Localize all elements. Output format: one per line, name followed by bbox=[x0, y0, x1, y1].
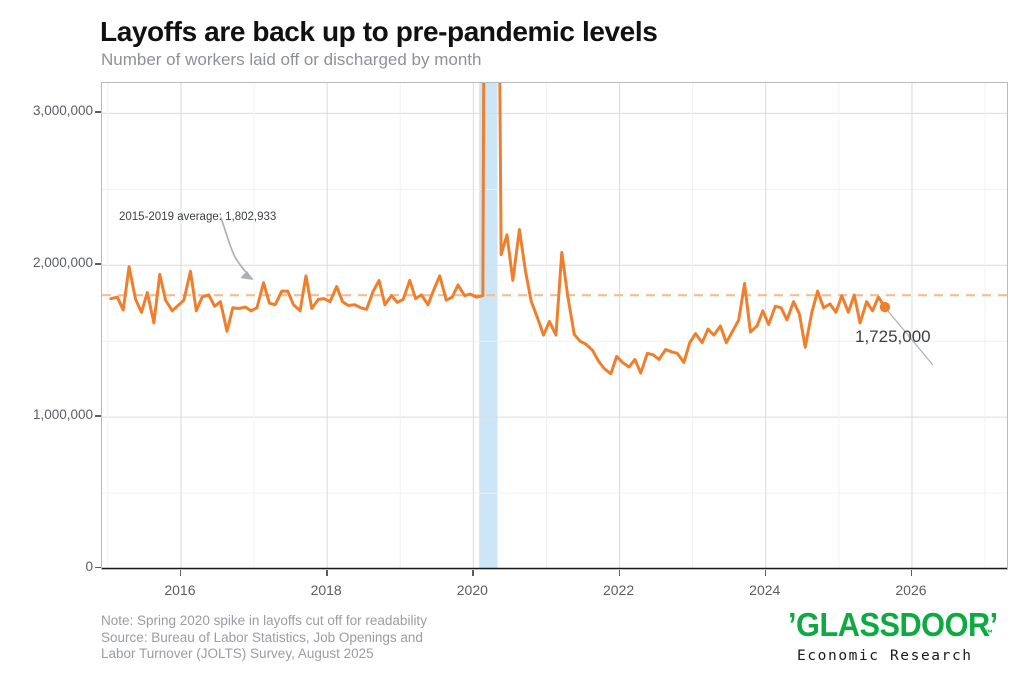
footnote: Note: Spring 2020 spike in layoffs cut o… bbox=[101, 613, 427, 663]
glassdoor-logo: ’GLASSDOOR’ ™ Economic Research bbox=[788, 606, 1008, 676]
x-axis-tick-mark bbox=[619, 570, 620, 576]
y-axis-tick-label: 1,000,000 bbox=[9, 407, 93, 422]
logo-tagline: Economic Research bbox=[797, 648, 973, 664]
average-annotation-label: 2015-2019 average: 1,802,933 bbox=[119, 211, 276, 223]
end-point-marker bbox=[880, 302, 890, 312]
y-axis-tick-mark bbox=[95, 263, 101, 264]
series-line-layoffs bbox=[111, 83, 885, 374]
footnote-line-1: Note: Spring 2020 spike in layoffs cut o… bbox=[101, 613, 427, 630]
annotation-arrow-curve bbox=[221, 218, 252, 279]
x-axis-tick-mark bbox=[765, 570, 766, 576]
glassdoor-wordmark: ’GLASSDOOR’ bbox=[788, 606, 998, 644]
y-axis-tick-mark bbox=[95, 111, 101, 112]
y-axis-tick-label: 2,000,000 bbox=[9, 255, 93, 270]
footnote-line-2: Source: Bureau of Labor Statistics, Job … bbox=[101, 630, 427, 647]
footnote-line-3: Labor Turnover (JOLTS) Survey, August 20… bbox=[101, 646, 427, 663]
chart-canvas bbox=[102, 83, 1007, 569]
annotation-arrowhead-icon bbox=[242, 272, 253, 279]
x-axis-tick-label: 2016 bbox=[140, 582, 220, 598]
x-axis-tick-label: 2024 bbox=[725, 582, 805, 598]
y-axis-tick-label: 0 bbox=[9, 559, 93, 574]
x-axis-tick-mark bbox=[326, 570, 327, 576]
plot-area bbox=[101, 82, 1008, 570]
chart-page: Layoffs are back up to pre-pandemic leve… bbox=[0, 0, 1024, 682]
end-value-annotation-label: 1,725,000 bbox=[855, 327, 931, 347]
x-axis-tick-label: 2018 bbox=[286, 582, 366, 598]
x-axis-tick-mark bbox=[472, 570, 473, 576]
x-axis-tick-mark bbox=[911, 570, 912, 576]
trademark-icon: ™ bbox=[984, 628, 993, 638]
x-axis-tick-label: 2020 bbox=[432, 582, 512, 598]
x-axis-tick-label: 2022 bbox=[579, 582, 659, 598]
y-axis-tick-label: 3,000,000 bbox=[9, 103, 93, 118]
y-axis-tick-mark bbox=[95, 415, 101, 416]
page-title: Layoffs are back up to pre-pandemic leve… bbox=[100, 16, 657, 48]
x-axis-tick-label: 2026 bbox=[871, 582, 951, 598]
page-subtitle: Number of workers laid off or discharged… bbox=[101, 50, 481, 70]
x-axis-tick-mark bbox=[180, 570, 181, 576]
y-axis-tick-mark bbox=[95, 567, 101, 568]
